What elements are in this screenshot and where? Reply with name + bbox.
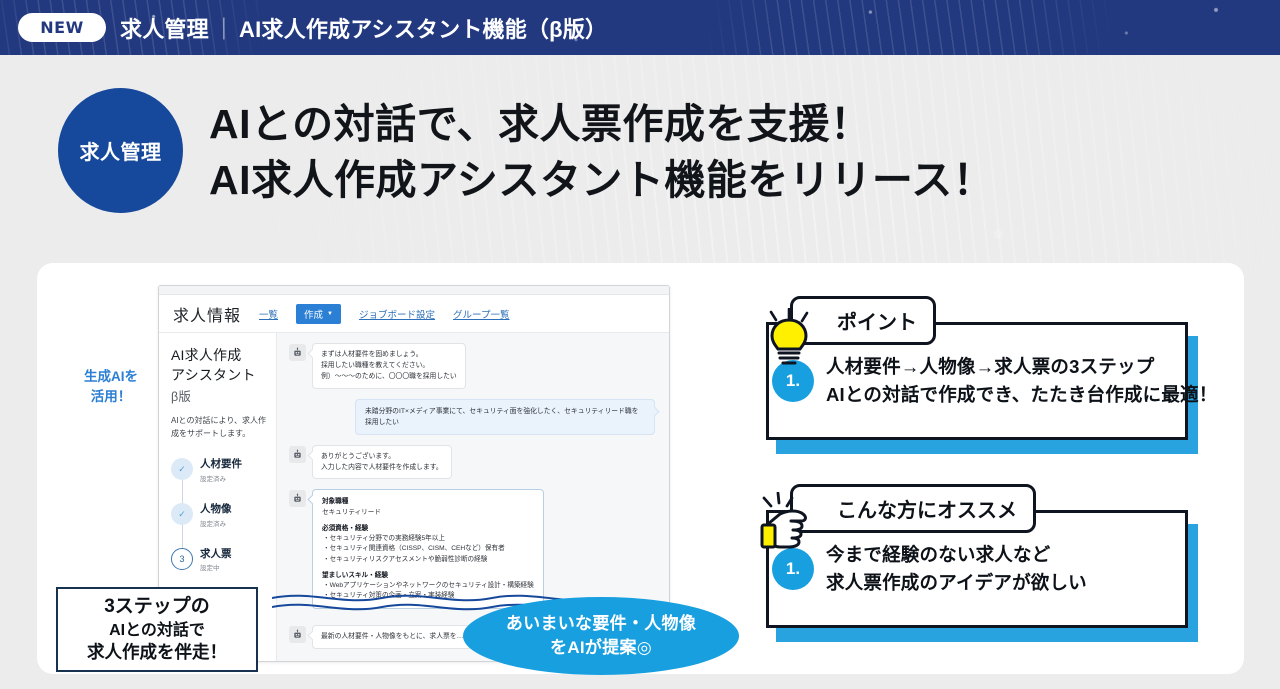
mockup-navbar: 求人情報 一覧 作成 ▼ ジョブボード設定 グループ一覧 [159,295,669,333]
panel-text-line1: 今まで経験のない求人など [826,541,1087,569]
hero-section: 求人管理 AIとの対話で、求人票作成を支援！ AI求人作成アシスタント機能をリリ… [0,55,1280,245]
generative-ai-label: 生成AIを 活用！ [63,367,159,406]
mockup-tab-list[interactable]: 一覧 [259,307,278,321]
chat-message-bot: まずは人材要件を固めましょう。 採用したい職種を教えてください。 例）〜〜〜のた… [289,343,657,389]
mockup-brand: 求人情報 [173,302,241,326]
page-header: NEW 求人管理｜AI求人作成アシスタント機能（β版） [0,0,1280,55]
header-feature-name: AI求人作成アシスタント機能（β版） [239,17,607,42]
chat-line: 入力した内容で人材要件を作成します。 [321,462,443,473]
hero-headline: AIとの対話で、求人票作成を支援！ AI求人作成アシスタント機能をリリース！ [209,97,994,209]
chat-line: ありがとうございます。 [321,451,443,462]
robot-icon [289,344,306,361]
mockup-sidebar-description: AIとの対話により、求人作成をサポートします。 [171,415,266,441]
recommended-panel: 1. 今まで経験のない求人など 求人票作成のアイデアが欲しい こんな方にオススメ [766,510,1188,628]
mockup-step-item[interactable]: 3 求人票 設定中 [171,548,266,573]
mockup-tab-create[interactable]: 作成 ▼ [296,304,341,324]
mockup-step-status: 設定済み [200,518,232,528]
lightbulb-icon [761,308,817,370]
chat-bubble-user: 未踏分野のIT×メディア事業にて、セキュリティ面を強化したく、セキュリティリード… [355,399,655,435]
panel-text: 今まで経験のない求人など 求人票作成のアイデアが欲しい [796,541,1087,597]
chat-message-user: 未踏分野のIT×メディア事業にて、セキュリティ面を強化したく、セキュリティリード… [289,399,657,435]
check-icon: ✓ [171,458,193,480]
mockup-tab-jobboard[interactable]: ジョブボード設定 [359,307,435,321]
panel-tab-recommended: こんな方にオススメ [790,484,1036,533]
mockup-tab-create-label: 作成 [304,307,323,321]
mockup-step-item[interactable]: ✓ 人物像 設定済み [171,503,266,528]
pointing-hand-icon [758,492,820,558]
oval-line1: あいまいな要件・人物像 [506,612,696,636]
three-step-note-box: 3ステップの AIとの対話で 求人作成を伴走！ [56,587,258,672]
chat-message-bot: ありがとうございます。 入力した内容で人材要件を作成します。 [289,445,657,479]
ai-suggestion-oval-badge: あいまいな要件・人物像 をAIが提案◎ [463,597,739,675]
header-category: 求人管理 [120,17,209,42]
chat-line: 採用したい職種を教えてください。 [321,360,457,371]
doc-list-item: ・Webアプリケーションやネットワークのセキュリティ設計・構築経験 [322,581,534,591]
chat-bubble-bot-3: 最新の人材要件・人物像をもとに、求人票を… [312,625,472,648]
new-badge: NEW [18,13,106,42]
doc-list-item: ・セキュリティ分野での実務経験5年以上 [322,534,534,544]
point-panel: 1. 人材要件→人物像→求人票の3ステップ AIとの対話で作成でき、たたき台作成… [766,322,1188,440]
hero-headline-line2: AI求人作成アシスタント機能をリリース！ [209,153,994,209]
header-title: 求人管理｜AI求人作成アシスタント機能（β版） [120,12,607,44]
doc-list-item: ・セキュリティ関連資格（CISSP、CISM、CEHなど）保有者 [322,544,534,554]
header-separator: ｜ [209,17,239,42]
mockup-titlebar [159,286,669,295]
panel-text: 人材要件→人物像→求人票の3ステップ AIとの対話で作成でき、たたき台作成に最適… [796,353,1217,409]
doc-heading: 望ましいスキル・経験 [322,571,534,581]
mockup-sidebar-title-line1: AI求人作成 [171,345,266,365]
note-line3: 求人作成を伴走！ [87,641,227,664]
mockup-step-name: 人物像 [200,503,232,516]
step-number-icon: 3 [171,548,193,570]
beta-tag: β版 [171,390,191,404]
generated-job-spec-card: 対象職種 セキュリティリード 必須資格・経験 ・セキュリティ分野での実務経験5年… [312,489,544,609]
hero-category-badge: 求人管理 [58,88,183,213]
check-icon: ✓ [171,503,193,525]
doc-body: セキュリティリード [322,508,534,518]
doc-list-item: ・セキュリティリスクアセスメントや脆弱性診断の経験 [322,555,534,565]
mockup-sidebar-title: AI求人作成 アシスタント β版 [171,345,266,406]
doc-list-item: ・セキュリティ対策の企画・立案・実装経験 [322,591,534,601]
chat-line: 例）〜〜〜のために、〇〇〇職を採用したい [321,371,457,382]
doc-heading: 対象職種 [322,497,534,507]
generative-ai-label-line1: 生成AIを [63,367,159,387]
chat-bubble-bot-2: ありがとうございます。 入力した内容で人材要件を作成します。 [312,445,452,479]
note-line1: 3ステップの [104,594,210,619]
chevron-down-icon: ▼ [327,311,333,317]
robot-icon [289,446,306,463]
mockup-sidebar-title-line2: アシスタント β版 [171,365,266,406]
robot-icon [289,626,306,643]
panel-text-line2: AIとの対話で作成でき、たたき台作成に最適！ [826,381,1217,409]
chat-line: まずは人材要件を固めましょう。 [321,349,457,360]
mockup-step-item[interactable]: ✓ 人材要件 設定済み [171,458,266,483]
panel-text-line2: 求人票作成のアイデアが欲しい [826,569,1087,597]
mockup-step-status: 設定済み [200,473,242,483]
oval-line2: をAIが提案◎ [550,636,652,660]
mockup-step-name: 求人票 [200,548,232,561]
note-line2: AIとの対話で [109,620,205,641]
hero-headline-line1: AIとの対話で、求人票作成を支援！ [209,97,994,153]
chat-message-bot-doc: 対象職種 セキュリティリード 必須資格・経験 ・セキュリティ分野での実務経験5年… [289,489,657,609]
generative-ai-label-line2: 活用！ [63,387,159,407]
mockup-step-status: 設定中 [200,562,232,572]
chat-bubble-bot-1: まずは人材要件を固めましょう。 採用したい職種を教えてください。 例）〜〜〜のた… [312,343,466,389]
panel-text-line1: 人材要件→人物像→求人票の3ステップ [826,353,1217,381]
mockup-step-name: 人材要件 [200,458,242,471]
robot-icon [289,490,306,507]
mockup-step-list: ✓ 人材要件 設定済み ✓ 人物像 設定済み 3 求人票 [171,458,266,572]
mockup-tab-group[interactable]: グループ一覧 [453,307,509,321]
doc-heading: 必須資格・経験 [322,524,534,534]
